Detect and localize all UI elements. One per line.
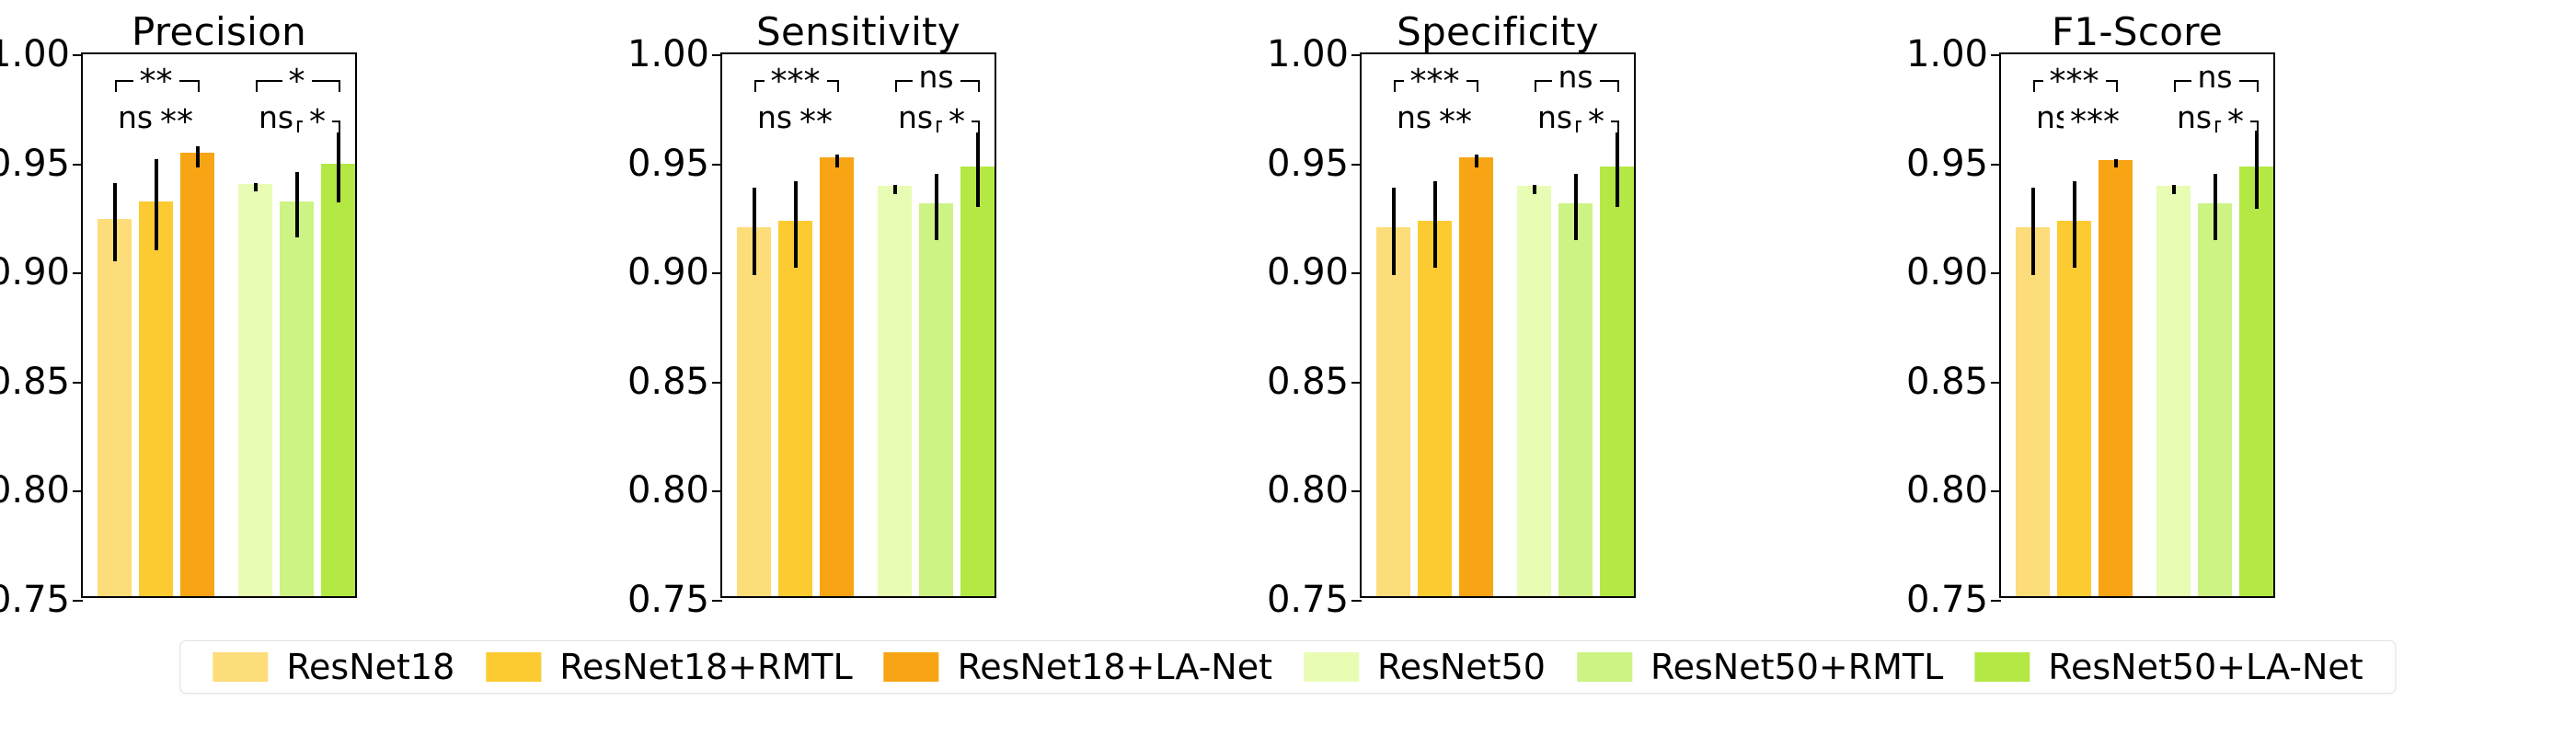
bar	[2016, 227, 2051, 596]
significance-label: **	[1432, 106, 1478, 139]
significance-label: **	[133, 65, 179, 98]
error-bar	[295, 172, 299, 237]
error-bar	[1392, 188, 1396, 275]
y-axis-tick-label: 0.75	[0, 581, 70, 618]
significance-label: ns	[252, 102, 300, 132]
y-axis-tick-mark	[712, 600, 722, 602]
error-bar	[935, 174, 938, 239]
error-bar	[835, 155, 839, 167]
bracket-cap-left	[1576, 121, 1578, 132]
y-axis-tick-label: 0.95	[0, 145, 70, 182]
y-axis-tick-label: 0.85	[1906, 363, 1988, 400]
legend-item[interactable]: ResNet50	[1304, 650, 1546, 684]
y-axis-tick-mark	[1351, 600, 1362, 602]
bracket-cap-right	[978, 80, 980, 92]
bracket-cap-right	[2257, 121, 2259, 132]
significance-label: ns	[751, 102, 799, 132]
bar	[1558, 203, 1593, 596]
y-axis-tick-label: 0.90	[1267, 254, 1349, 291]
bracket-cap-right	[1617, 121, 1619, 132]
error-bar	[2172, 185, 2176, 193]
chart-panel-sensitivity: Sensitivity0.750.800.850.900.951.00***ns…	[656, 0, 1061, 635]
y-axis-tick-label: 0.75	[1267, 581, 1349, 618]
y-axis-tick-label: 0.85	[1267, 363, 1349, 400]
bar	[321, 164, 356, 596]
y-axis-tick-mark	[73, 600, 83, 602]
bracket-cap-left	[115, 80, 117, 92]
significance-label: ***	[2064, 106, 2126, 139]
plot-area: 0.750.800.850.900.951.00**ns***ns*	[81, 52, 357, 598]
significance-label: ns	[891, 102, 939, 132]
y-axis-tick-label: 0.75	[627, 581, 709, 618]
error-bar	[337, 132, 340, 202]
legend-label: ResNet50+RMTL	[1650, 650, 1943, 684]
legend-swatch-icon	[1304, 652, 1359, 682]
y-axis-tick-mark	[1991, 164, 2001, 166]
panel-title: Precision	[17, 9, 421, 54]
bracket-cap-left	[895, 80, 897, 92]
error-bar	[1475, 155, 1478, 167]
error-bar	[113, 183, 117, 261]
chart-legend: ResNet18ResNet18+RMTLResNet18+LA-NetResN…	[179, 640, 2396, 694]
y-axis-tick-mark	[1351, 164, 1362, 166]
bar	[1459, 157, 1494, 596]
significance-label: *	[942, 106, 972, 139]
significance-label: ns	[912, 62, 960, 92]
significance-label: **	[793, 106, 839, 139]
y-axis-tick-mark	[1351, 54, 1362, 56]
significance-bracket: ns	[2174, 80, 2257, 95]
bar	[820, 157, 855, 596]
error-bar	[196, 146, 200, 168]
significance-bracket: *	[937, 121, 978, 135]
legend-item[interactable]: ResNet18+RMTL	[486, 650, 852, 684]
y-axis-tick-label: 0.80	[1267, 472, 1349, 509]
bracket-cap-right	[978, 121, 980, 132]
plot-area: 0.750.800.850.900.951.00***ns**nsns*	[1360, 52, 1636, 598]
y-axis-tick-mark	[73, 272, 83, 274]
bar	[280, 201, 315, 596]
bar	[1517, 186, 1552, 596]
error-bar	[1533, 185, 1536, 193]
significance-label: *	[303, 106, 332, 139]
chart-panel-f1-score: F1-Score0.750.800.850.900.951.00***ns***…	[1935, 0, 2340, 635]
significance-bracket: *	[256, 80, 339, 95]
y-axis-tick-label: 0.80	[1906, 472, 1988, 509]
bar	[180, 153, 215, 596]
bar	[960, 167, 995, 596]
error-bar	[1616, 132, 1619, 207]
chart-figure: Precision0.750.800.850.900.951.00**ns***…	[0, 0, 2576, 736]
significance-label: ***	[765, 65, 827, 98]
y-axis-tick-label: 0.85	[627, 363, 709, 400]
bar	[2239, 167, 2274, 596]
y-axis-tick-mark	[73, 490, 83, 492]
significance-bracket: ns	[754, 121, 796, 135]
y-axis-tick-label: 0.75	[1906, 581, 1988, 618]
significance-label: *	[2221, 106, 2250, 139]
y-axis-tick-label: 0.90	[627, 254, 709, 291]
legend-swatch-icon	[213, 652, 268, 682]
legend-label: ResNet18+RMTL	[559, 650, 852, 684]
y-axis-tick-mark	[1351, 382, 1362, 384]
bracket-cap-right	[339, 121, 340, 132]
bracket-cap-left	[1535, 80, 1536, 92]
y-axis-tick-label: 0.90	[0, 254, 70, 291]
y-axis-tick-label: 0.85	[0, 363, 70, 400]
y-axis-tick-mark	[73, 382, 83, 384]
panel-title: Specificity	[1295, 9, 1700, 54]
y-axis-tick-mark	[1991, 54, 2001, 56]
error-bar	[2073, 181, 2076, 269]
legend-label: ResNet18+LA-Net	[958, 650, 1272, 684]
bracket-cap-right	[2257, 80, 2259, 92]
bracket-cap-right	[339, 80, 340, 92]
panel-title: F1-Score	[1935, 9, 2340, 54]
y-axis-tick-mark	[712, 164, 722, 166]
bracket-cap-right	[1477, 80, 1478, 92]
significance-bracket: ***	[754, 80, 837, 95]
bar	[737, 227, 772, 596]
significance-bracket: ns	[256, 121, 297, 135]
y-axis-tick-mark	[712, 54, 722, 56]
y-axis-tick-label: 1.00	[1267, 36, 1349, 73]
error-bar	[2031, 188, 2035, 275]
legend-swatch-icon	[1577, 652, 1632, 682]
y-axis-tick-mark	[712, 272, 722, 274]
significance-bracket: *	[2215, 121, 2257, 135]
significance-bracket: ns	[895, 121, 937, 135]
bar	[778, 221, 813, 596]
bracket-cap-left	[937, 121, 938, 132]
bracket-cap-left	[2174, 80, 2176, 92]
error-bar	[1433, 181, 1437, 269]
y-axis-tick-mark	[712, 382, 722, 384]
y-axis-tick-label: 0.95	[1267, 145, 1349, 182]
error-bar	[794, 181, 798, 269]
bar	[1418, 221, 1453, 596]
significance-bracket: ***	[2075, 121, 2116, 135]
legend-label: ResNet18	[286, 650, 454, 684]
error-bar	[2114, 159, 2118, 167]
legend-swatch-icon	[1974, 652, 2030, 682]
y-axis-tick-mark	[1991, 382, 2001, 384]
legend-label: ResNet50	[1377, 650, 1546, 684]
significance-bracket: **	[796, 121, 837, 135]
error-bar	[893, 185, 897, 193]
bracket-cap-right	[1617, 80, 1619, 92]
significance-bracket: ns	[1394, 121, 1435, 135]
significance-bracket: ns	[1535, 80, 1617, 95]
bar	[238, 184, 273, 596]
y-axis-tick-mark	[1991, 490, 2001, 492]
significance-bracket: **	[1435, 121, 1477, 135]
legend-item[interactable]: ResNet50+LA-Net	[1974, 650, 2363, 684]
error-bar	[753, 188, 756, 275]
bar	[2099, 160, 2133, 596]
bar	[98, 219, 132, 596]
panel-title: Sensitivity	[656, 9, 1061, 54]
significance-bracket: ***	[1394, 80, 1477, 95]
y-axis-tick-mark	[1351, 490, 1362, 492]
significance-label: *	[282, 65, 312, 98]
significance-label: ns	[111, 102, 159, 132]
bar	[139, 201, 174, 596]
y-axis-tick-mark	[73, 164, 83, 166]
bar	[2156, 186, 2191, 596]
bracket-cap-right	[2116, 80, 2118, 92]
significance-bracket: ns	[1535, 121, 1576, 135]
chart-panel-specificity: Specificity0.750.800.850.900.951.00***ns…	[1295, 0, 1700, 635]
error-bar	[976, 132, 980, 207]
significance-bracket: ns	[115, 121, 156, 135]
y-axis-tick-label: 1.00	[0, 36, 70, 73]
chart-panel-precision: Precision0.750.800.850.900.951.00**ns***…	[17, 0, 421, 635]
error-bar	[2255, 131, 2259, 209]
plot-area: 0.750.800.850.900.951.00***ns***nsns*	[1999, 52, 2275, 598]
significance-label: ns	[1531, 102, 1579, 132]
y-axis-tick-mark	[1991, 272, 2001, 274]
significance-label: ns	[1551, 62, 1599, 92]
significance-label: ***	[2043, 65, 2106, 98]
significance-bracket: **	[115, 80, 198, 95]
y-axis-tick-mark	[712, 490, 722, 492]
y-axis-tick-mark	[1351, 272, 1362, 274]
plot-area: 0.750.800.850.900.951.00***ns**nsns*	[720, 52, 996, 598]
bracket-cap-left	[1394, 80, 1396, 92]
y-axis-tick-label: 1.00	[1906, 36, 1988, 73]
y-axis-tick-label: 0.80	[627, 472, 709, 509]
significance-bracket: ***	[2033, 80, 2116, 95]
bar	[1376, 227, 1411, 596]
significance-label: *	[1581, 106, 1611, 139]
legend-swatch-icon	[486, 652, 541, 682]
error-bar	[1574, 174, 1578, 239]
bar	[919, 203, 954, 596]
error-bar	[2214, 174, 2217, 239]
significance-label: ***	[1404, 65, 1466, 98]
significance-label: ns	[2170, 102, 2218, 132]
error-bar	[254, 183, 258, 191]
bar	[2198, 203, 2233, 596]
bracket-cap-left	[297, 121, 299, 132]
y-axis-tick-label: 0.80	[0, 472, 70, 509]
significance-label: **	[154, 106, 200, 139]
y-axis-tick-label: 0.95	[627, 145, 709, 182]
significance-bracket: **	[156, 121, 198, 135]
bracket-cap-left	[754, 80, 756, 92]
significance-bracket: *	[297, 121, 339, 135]
bracket-cap-left	[2033, 80, 2035, 92]
bar	[2057, 221, 2092, 596]
significance-bracket: ns	[895, 80, 978, 95]
significance-bracket: ns	[2174, 121, 2215, 135]
legend-item[interactable]: ResNet18	[213, 650, 454, 684]
y-axis-tick-mark	[1991, 600, 2001, 602]
bar	[1600, 167, 1635, 596]
legend-item[interactable]: ResNet18+LA-Net	[884, 650, 1272, 684]
significance-bracket: *	[1576, 121, 1617, 135]
y-axis-tick-label: 1.00	[627, 36, 709, 73]
significance-label: ns	[2191, 62, 2238, 92]
bar	[878, 186, 913, 596]
y-axis-tick-mark	[73, 54, 83, 56]
y-axis-tick-label: 0.95	[1906, 145, 1988, 182]
bracket-cap-right	[837, 80, 839, 92]
bracket-cap-left	[256, 80, 258, 92]
legend-item[interactable]: ResNet50+RMTL	[1577, 650, 1943, 684]
bracket-cap-right	[198, 80, 200, 92]
significance-label: ns	[1390, 102, 1438, 132]
legend-label: ResNet50+LA-Net	[2048, 650, 2363, 684]
bracket-cap-left	[2215, 121, 2217, 132]
y-axis-tick-label: 0.90	[1906, 254, 1988, 291]
legend-swatch-icon	[884, 652, 939, 682]
error-bar	[155, 159, 158, 251]
